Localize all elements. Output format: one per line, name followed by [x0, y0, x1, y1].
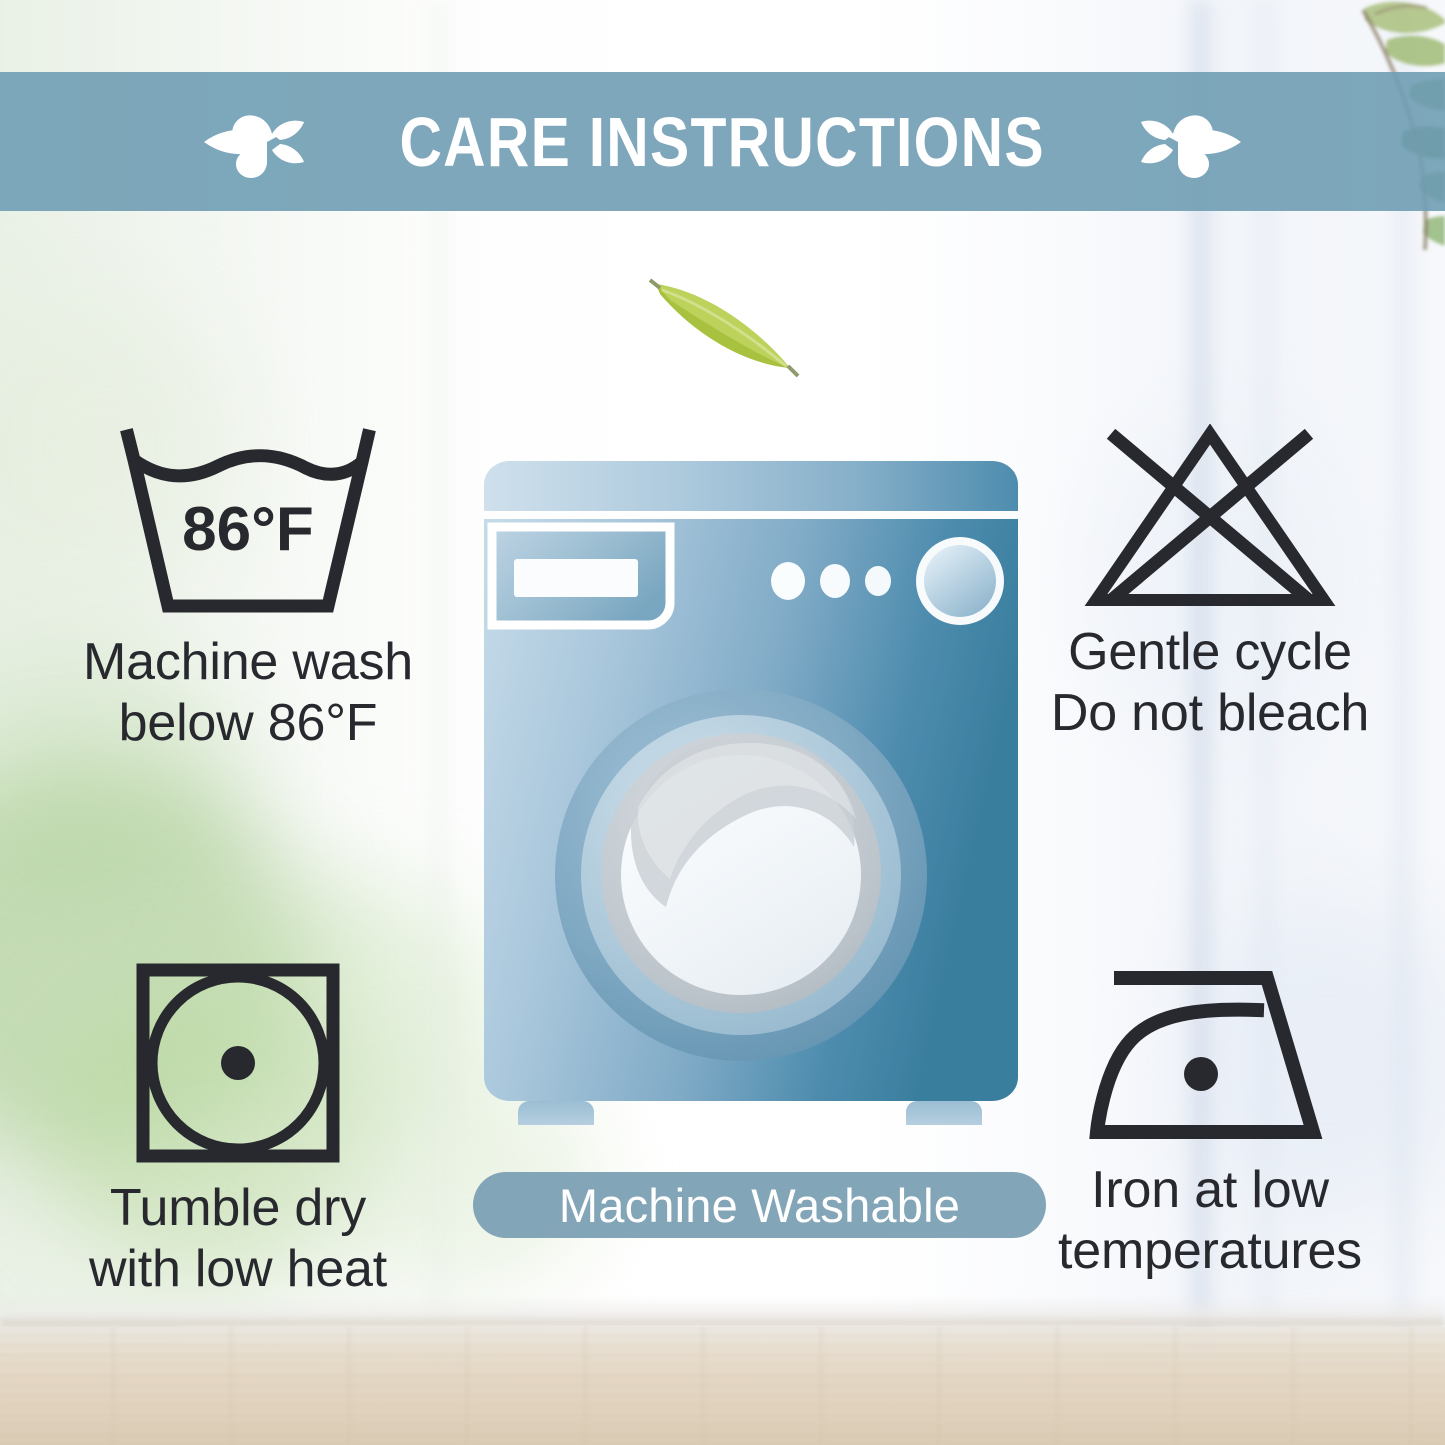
control-dial: [924, 545, 996, 617]
detergent-drawer-slot: [514, 559, 638, 597]
care-symbol-tumble-dry: Tumble dry with low heat: [28, 960, 448, 1300]
care-symbol-do-not-bleach: Gentle cycle Do not bleach: [1000, 424, 1420, 744]
crossed-triangle-icon: [1082, 424, 1338, 610]
wash-tub-icon: 86°F: [114, 424, 382, 620]
care-caption-iron: Iron at low temperatures: [1058, 1160, 1362, 1282]
table-edge-shadow: [0, 1297, 1445, 1327]
care-caption-machine-wash: Machine wash below 86°F: [83, 632, 413, 754]
indicator-light: [771, 562, 805, 600]
wash-temperature-label: 86°F: [182, 495, 314, 564]
care-caption-do-not-bleach: Gentle cycle Do not bleach: [1051, 622, 1369, 744]
washer-foot: [906, 1101, 982, 1125]
iron-icon: [1081, 962, 1339, 1148]
care-symbol-iron: Iron at low temperatures: [1000, 962, 1420, 1282]
fleur-de-lis-icon: [1133, 92, 1253, 192]
care-symbol-machine-wash: 86°F Machine wash below 86°F: [38, 424, 458, 754]
care-caption-tumble-dry: Tumble dry with low heat: [89, 1178, 387, 1300]
header-banner: CARE INSTRUCTIONS: [0, 72, 1445, 211]
wood-grain-texture: [0, 1327, 1445, 1445]
page-title: CARE INSTRUCTIONS: [400, 107, 1045, 177]
indicator-light: [865, 566, 891, 596]
tumble-dry-icon: [133, 960, 343, 1166]
badge-label: Machine Washable: [559, 1182, 960, 1229]
washer-foot: [518, 1101, 594, 1125]
machine-washable-badge: Machine Washable: [473, 1172, 1046, 1238]
washing-machine-illustration: [470, 455, 1030, 1125]
indicator-light: [820, 564, 850, 598]
washer-top-lid: [484, 461, 1018, 511]
fleur-de-lis-icon: [192, 92, 312, 192]
care-instructions-infographic: CARE INSTRUCTIONS 86°F Machine wash belo…: [0, 0, 1445, 1445]
